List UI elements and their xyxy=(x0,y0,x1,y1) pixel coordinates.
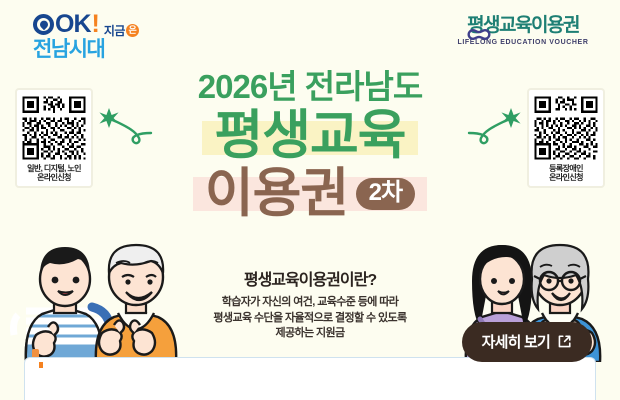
bottom-content-card xyxy=(24,357,596,400)
orange-tick-marker xyxy=(39,362,43,368)
jigeum-label: 지금 xyxy=(104,25,125,37)
external-link-icon xyxy=(557,334,572,349)
voucher-logo-korean: 평생교육이용권 xyxy=(448,16,598,36)
eun-badge: 은 xyxy=(126,24,139,37)
voucher-logo-english: LIFELONG EDUCATION VOUCHER xyxy=(448,39,598,46)
headline-block: 2026년 전라남도 평생교육 이용권 2차 xyxy=(0,70,620,220)
headline-line-2: 평생교육 xyxy=(208,109,411,162)
lifelong-education-voucher-logo: 평생교육이용권 LIFELONG EDUCATION VOUCHER xyxy=(448,16,598,46)
view-details-label: 자세히 보기 xyxy=(482,331,550,352)
ok-letter-k: OK xyxy=(55,12,91,37)
headline-line-3: 이용권 2차 xyxy=(199,167,421,220)
jigeum-text: 지금은 xyxy=(104,24,139,37)
exclamation-mark: ! xyxy=(92,12,99,37)
headline-year: 2026년 전라남도 xyxy=(0,70,620,103)
description-title: 평생교육이용권이란? xyxy=(0,272,620,290)
headline-line-3-text: 이용권 xyxy=(205,164,348,223)
headline-line-2-text: 평생교육 xyxy=(214,106,405,165)
jeonnam-province-logo: OK! 지금은 전남시대 xyxy=(33,13,153,61)
voucher-logo-korean-text: 평생교육이용권 xyxy=(467,15,579,36)
phase-badge: 2차 xyxy=(356,178,415,210)
jeonnam-sidae-label: 전남시대 xyxy=(33,39,153,60)
heart-icon xyxy=(33,14,54,35)
ok-wordmark: OK! xyxy=(33,12,99,37)
view-details-button[interactable]: 자세히 보기 xyxy=(462,322,592,362)
promo-banner: OK! 지금은 전남시대 평생교육이용권 LIFELONG EDUCATION … xyxy=(0,0,620,400)
logo-top-row: OK! 지금은 xyxy=(33,13,153,37)
